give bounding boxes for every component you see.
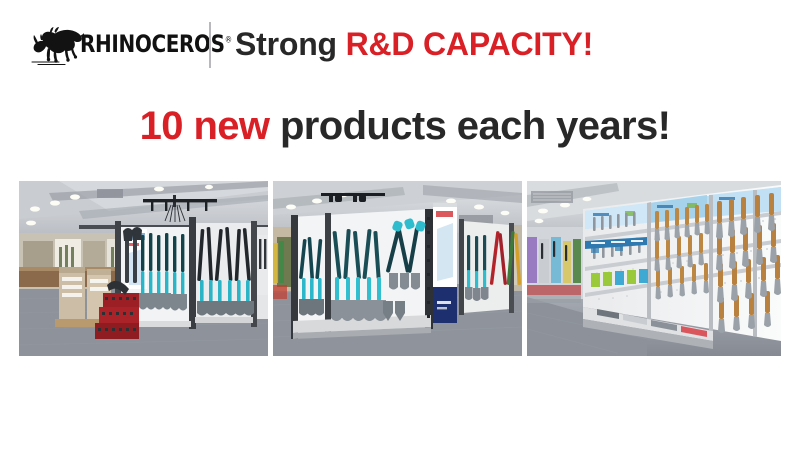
gallery-photo-2 bbox=[273, 181, 522, 356]
rhino-logo-icon bbox=[28, 21, 84, 65]
showroom-pegboard-wall-image bbox=[527, 181, 781, 356]
header-tagline-plain: Strong bbox=[235, 26, 346, 62]
brand-logo: RHINOCEROS® bbox=[28, 16, 200, 70]
gallery-photo-3 bbox=[527, 181, 781, 356]
showroom-photo-gallery bbox=[19, 181, 781, 356]
showroom-tool-racks-closeup-image bbox=[273, 181, 522, 356]
registered-trademark-symbol: ® bbox=[225, 35, 232, 45]
brand-wordmark-text: RHINOCEROS bbox=[80, 31, 225, 59]
gallery-photo-1 bbox=[19, 181, 268, 356]
header-tagline-accent: R&D CAPACITY! bbox=[346, 26, 593, 62]
header-divider bbox=[209, 22, 211, 68]
header-tagline: Strong R&D CAPACITY! bbox=[235, 21, 593, 67]
brand-header: RHINOCEROS® Strong R&D CAPACITY! bbox=[0, 0, 800, 90]
showroom-tool-racks-aisle-image bbox=[19, 181, 268, 356]
headline-plain: products each years! bbox=[269, 104, 670, 148]
page-headline: 10 new products each years! bbox=[0, 100, 800, 152]
headline-accent: 10 new bbox=[140, 104, 270, 148]
